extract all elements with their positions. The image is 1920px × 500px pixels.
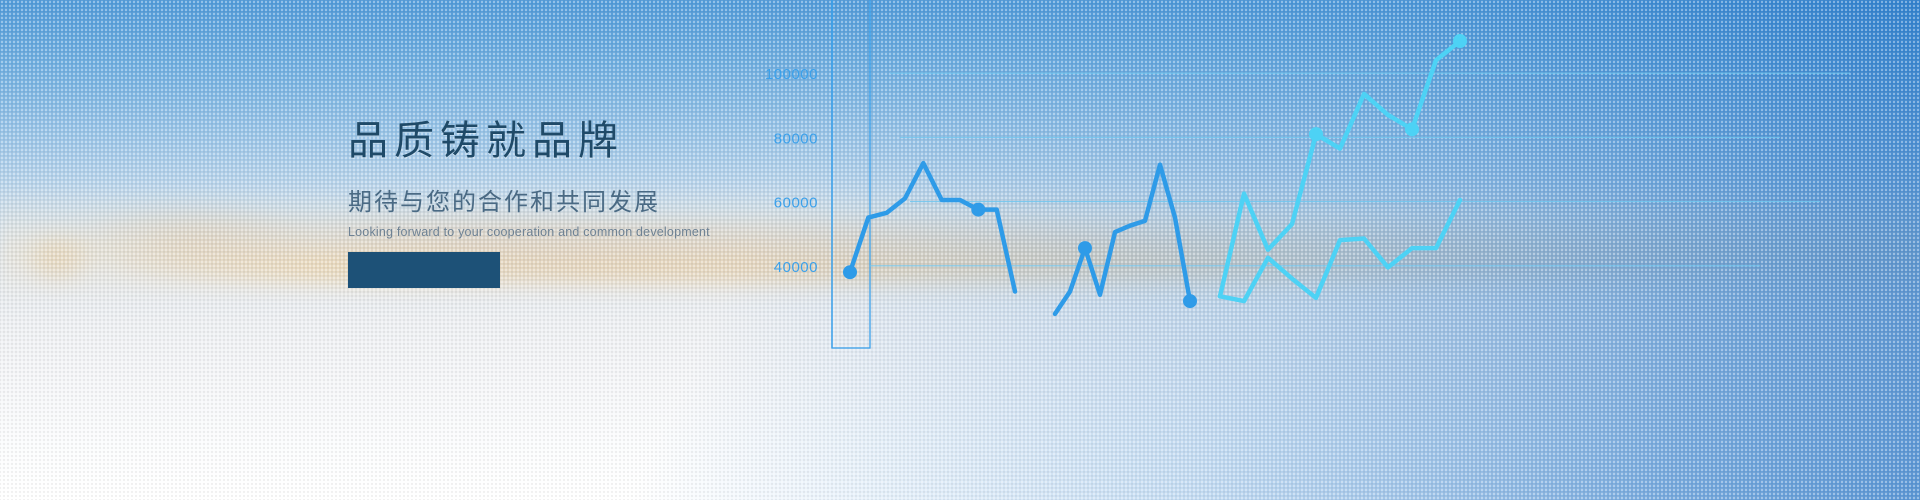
hero-copy: 品质铸就品牌 期待与您的合作和共同发展 Looking forward to y… [348,118,768,240]
chart-data-point [1309,127,1323,141]
chart-data-point [1078,241,1092,255]
chart-data-point [843,265,857,279]
line-chart: 100000800006000040000 [760,0,1920,500]
subtitle-en: Looking forward to your cooperation and … [348,224,768,240]
chart-series-line [1220,200,1460,301]
chart-data-point [1183,294,1197,308]
cta-button[interactable] [348,252,500,288]
chart-data-point [971,203,985,217]
y-axis-tick-label: 100000 [765,66,818,83]
chart-data-point [1453,34,1467,48]
axis-box [832,0,870,348]
chart-series-line [850,163,1015,291]
chart-series-line [1055,165,1190,314]
hero-banner: 品质铸就品牌 期待与您的合作和共同发展 Looking forward to y… [0,0,1920,500]
chart-data-point [1405,122,1419,136]
chart-canvas: 100000800006000040000 [760,0,1920,500]
subtitle-cn: 期待与您的合作和共同发展 [348,189,768,218]
y-axis-tick-label: 40000 [774,259,818,276]
page-title: 品质铸就品牌 [348,118,768,165]
y-axis-tick-label: 80000 [774,130,818,147]
y-axis-tick-label: 60000 [774,195,818,212]
chart-series-line [1220,41,1460,296]
